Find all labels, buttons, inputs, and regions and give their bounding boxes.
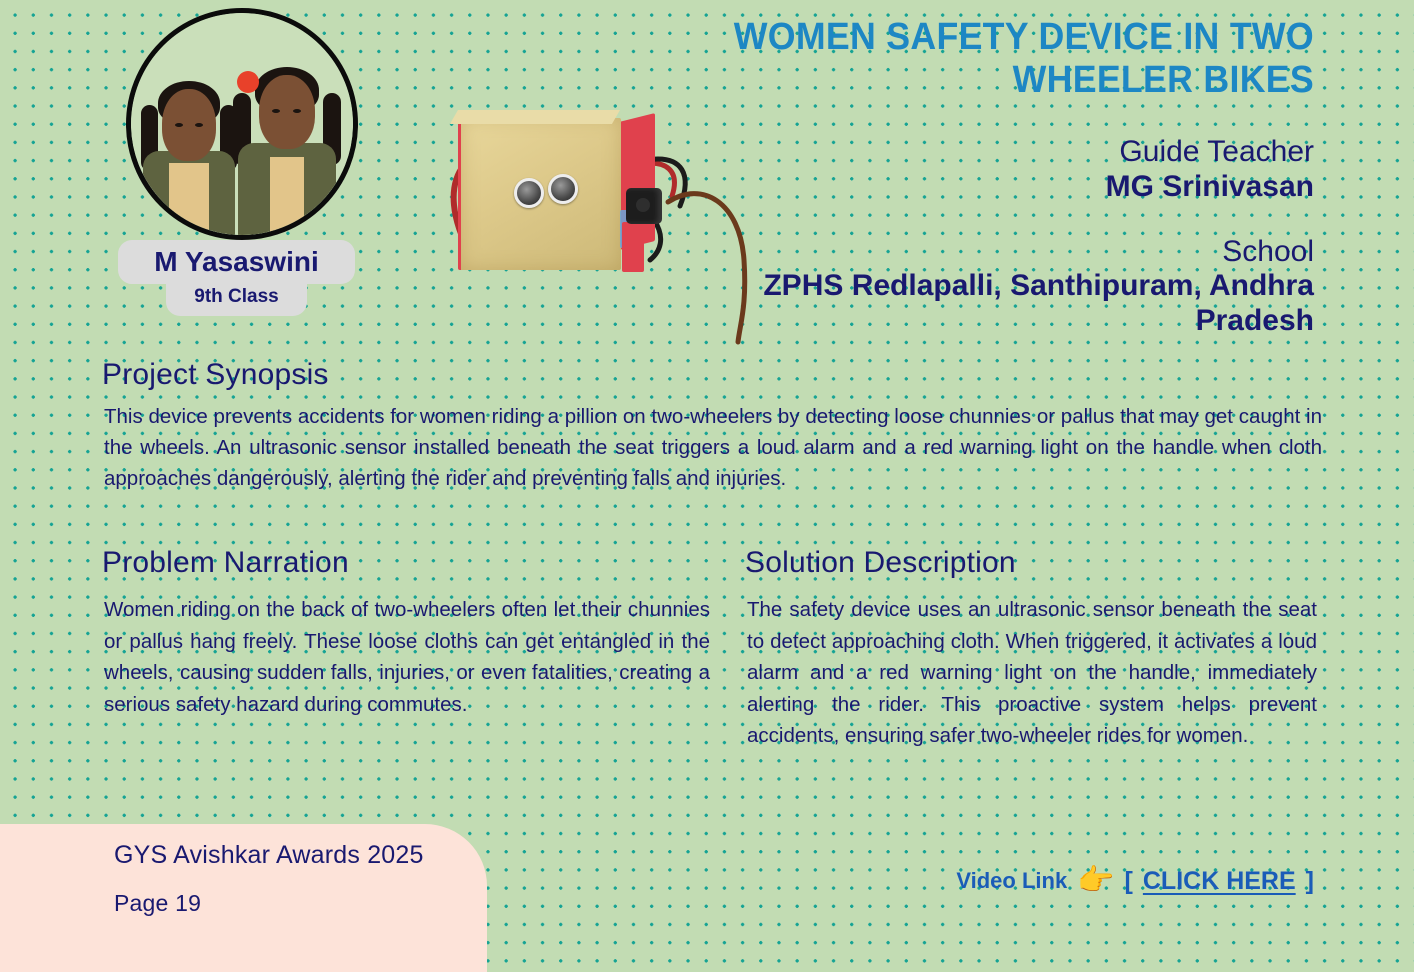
student-class-text: 9th Class <box>166 282 307 312</box>
ultrasonic-sensor-icon <box>548 174 578 204</box>
school-block: School ZPHS Redlapalli, Santhipuram, And… <box>674 235 1314 339</box>
eye-icon <box>195 123 203 127</box>
page-title: WOMEN SAFETY DEVICE IN TWO WHEELER BIKES <box>675 16 1314 102</box>
guide-teacher-label: Guide Teacher <box>674 135 1314 170</box>
student-figure-right <box>231 59 343 235</box>
footer-award-text: GYS Avishkar Awards 2025 <box>114 841 424 870</box>
student-photo <box>126 8 358 240</box>
synopsis-heading: Project Synopsis <box>102 358 329 392</box>
eye-icon <box>293 109 301 113</box>
problem-text: Women riding on the back of two-wheelers… <box>104 594 710 720</box>
synopsis-text: This device prevents accidents for women… <box>104 402 1322 494</box>
face-icon <box>259 75 315 149</box>
bracket-open: [ <box>1125 867 1133 896</box>
student-photo-image <box>131 13 353 235</box>
footer-page-number: Page 19 <box>114 890 201 917</box>
flower-icon <box>237 71 259 93</box>
uniform-check-pattern <box>169 163 209 235</box>
eye-icon <box>272 109 280 113</box>
student-name-text: M Yasaswini <box>118 240 355 284</box>
project-meta: Guide Teacher MG Srinivasan School ZPHS … <box>674 135 1314 339</box>
student-class-badge: 9th Class <box>166 282 307 316</box>
guide-teacher-block: Guide Teacher MG Srinivasan <box>674 135 1314 205</box>
school-name: ZPHS Redlapalli, Santhipuram, Andhra Pra… <box>674 269 1314 339</box>
problem-heading: Problem Narration <box>102 546 349 580</box>
click-here-link[interactable]: CLICK HERE <box>1143 867 1296 896</box>
eye-icon <box>175 123 183 127</box>
video-link-row[interactable]: Video Link 👉 [ CLICK HERE ] <box>956 866 1314 896</box>
solution-heading: Solution Description <box>745 546 1016 580</box>
video-link-label: Video Link <box>956 868 1067 894</box>
poster-page: GYS Avishkar Awards 2025 Page 19 WOMEN S… <box>0 0 1414 972</box>
guide-teacher-name: MG Srinivasan <box>674 170 1314 205</box>
device-photo <box>440 110 770 360</box>
buzzer-icon <box>626 188 662 224</box>
bracket-close: ] <box>1306 867 1314 896</box>
school-label: School <box>674 235 1314 270</box>
uniform-check-pattern <box>270 157 304 235</box>
device-battery <box>622 222 644 272</box>
student-name-badge: M Yasaswini <box>118 240 355 284</box>
solution-text: The safety device uses an ultrasonic sen… <box>747 594 1317 752</box>
pointing-hand-icon: 👉 <box>1077 866 1114 896</box>
device-top-face <box>450 110 620 124</box>
face-icon <box>162 89 216 161</box>
ultrasonic-sensor-icon <box>514 178 544 208</box>
student-figure-left <box>137 67 241 235</box>
